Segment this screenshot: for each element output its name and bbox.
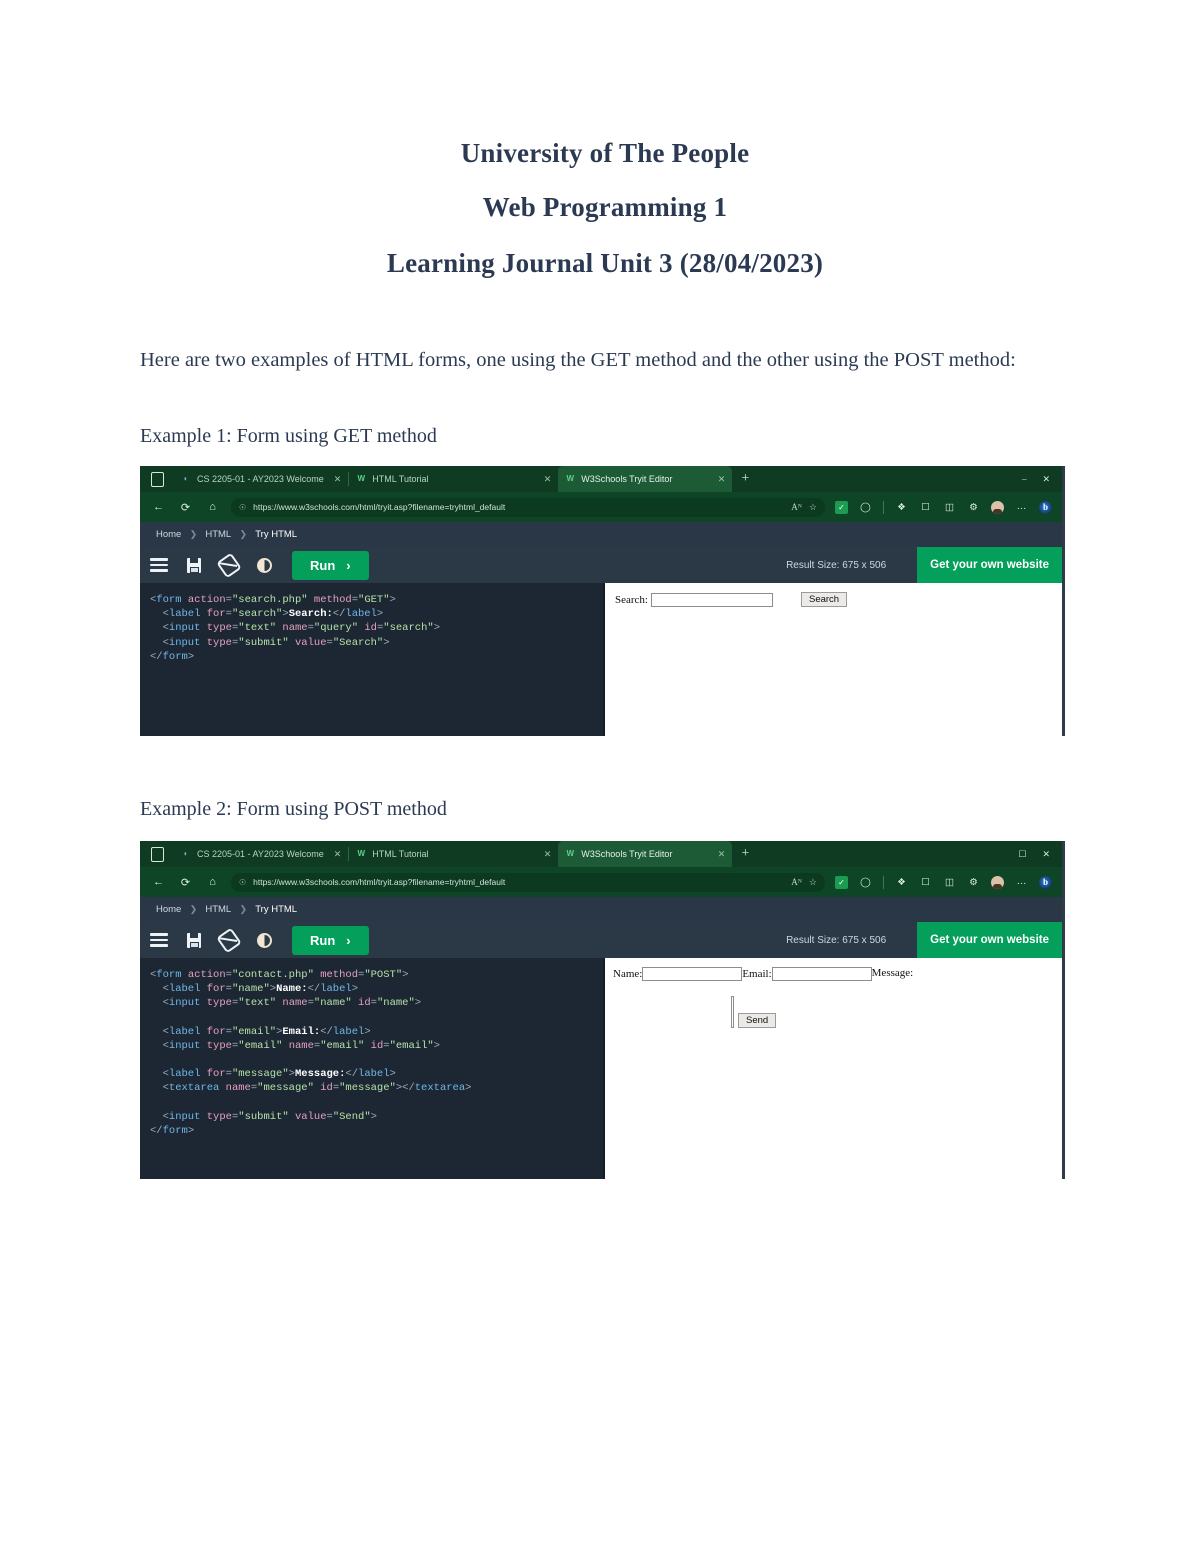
- browser-tab-title: CS 2205-01 - AY2023 Welcome: [197, 849, 324, 859]
- email-field-label: Email:: [742, 968, 771, 980]
- w3schools-favicon: W: [565, 474, 575, 484]
- shield-icon[interactable]: ✓: [835, 501, 848, 514]
- favorites-icon[interactable]: ☐: [919, 876, 932, 889]
- breadcrumb-separator-icon: ❯: [185, 904, 201, 915]
- shield-icon[interactable]: ✓: [835, 876, 848, 889]
- run-button-label: Run: [310, 933, 335, 948]
- address-input[interactable]: ☉ https://www.w3schools.com/html/tryit.a…: [231, 873, 825, 892]
- split-screen-icon[interactable]: ◫: [943, 876, 956, 889]
- more-icon[interactable]: …: [1015, 501, 1028, 514]
- window-maximize-button[interactable]: ☐: [1018, 849, 1026, 860]
- breadcrumb: Home ❯ HTML ❯ Try HTML: [140, 522, 1062, 547]
- favorite-star-icon[interactable]: ☆: [809, 502, 817, 513]
- page-title-university: University of The People: [140, 138, 1070, 169]
- editor-body: <form action="contact.php" method="POST"…: [140, 958, 1062, 1179]
- browser-tab-2[interactable]: W W3Schools Tryit Editor ✕: [558, 841, 732, 867]
- window-controls: ☐ ✕: [1018, 841, 1062, 867]
- browser-tab-0[interactable]: ◐ CS 2205-01 - AY2023 Welcome ✕: [174, 841, 348, 867]
- browser-tab-title: HTML Tutorial: [372, 474, 533, 484]
- message-field-group: Message:: [872, 967, 914, 979]
- result-preview-pane-example-2: Name: Email: Message: Send: [605, 958, 1062, 1179]
- breadcrumb-item-html[interactable]: HTML: [201, 904, 235, 915]
- back-icon[interactable]: ←: [150, 499, 167, 516]
- editor-toolbar: Run › Result Size: 675 x 506 Get your ow…: [140, 922, 1062, 958]
- refresh-icon[interactable]: ⟳: [177, 874, 194, 891]
- breadcrumb-separator-icon: ❯: [235, 529, 251, 540]
- window-close-button[interactable]: ✕: [1042, 849, 1050, 860]
- refresh-icon[interactable]: ⟳: [177, 499, 194, 516]
- page-title-assignment: Learning Journal Unit 3 (28/04/2023): [140, 248, 1070, 279]
- history-icon[interactable]: ◯: [859, 501, 872, 514]
- extensions-icon[interactable]: ⚙: [967, 501, 980, 514]
- save-icon[interactable]: [185, 931, 203, 949]
- message-field-label: Message:: [872, 967, 914, 979]
- w3schools-favicon: W: [356, 849, 366, 859]
- breadcrumb-separator-icon: ❯: [185, 529, 201, 540]
- editor-body: <form action="search.php" method="GET"> …: [140, 583, 1062, 736]
- browser-screenshot-example-2: ◐ CS 2205-01 - AY2023 Welcome ✕ W HTML T…: [140, 841, 1065, 1179]
- search-input[interactable]: [651, 593, 773, 607]
- chevron-right-icon: ›: [346, 933, 350, 948]
- browser-tab-title: CS 2205-01 - AY2023 Welcome: [197, 474, 324, 484]
- tab-close-icon[interactable]: ✕: [330, 849, 342, 860]
- tab-close-icon[interactable]: ✕: [540, 849, 552, 860]
- address-url-text: https://www.w3schools.com/html/tryit.asp…: [253, 877, 784, 887]
- search-field-label: Search:: [615, 594, 648, 606]
- home-icon[interactable]: ⌂: [204, 874, 221, 891]
- result-size-label: Result Size: 675 x 506: [786, 935, 900, 946]
- window-controls: – ✕: [1022, 466, 1062, 492]
- browser-tab-1[interactable]: W HTML Tutorial ✕: [349, 841, 558, 867]
- copilot-icon[interactable]: b: [1039, 876, 1052, 889]
- save-icon[interactable]: [185, 556, 203, 574]
- result-preview-pane-example-1: Search: Search: [605, 583, 1062, 736]
- toolbar-divider: [883, 876, 884, 889]
- name-input[interactable]: [642, 967, 742, 981]
- code-editor-pane-example-1[interactable]: <form action="search.php" method="GET"> …: [140, 583, 605, 736]
- intro-paragraph: Here are two examples of HTML forms, one…: [140, 346, 1065, 376]
- menu-icon[interactable]: [150, 931, 168, 949]
- breadcrumb-item-try-html: Try HTML: [251, 529, 301, 540]
- email-input[interactable]: [772, 967, 872, 981]
- menu-icon[interactable]: [150, 556, 168, 574]
- browser-toolbar-icons: ✓ ◯ ❖ ☐ ◫ ⚙ … b: [835, 876, 1052, 889]
- tab-close-icon[interactable]: ✕: [330, 474, 342, 485]
- example-1-caption: Example 1: Form using GET method: [140, 425, 437, 448]
- run-button[interactable]: Run ›: [292, 551, 369, 580]
- address-input[interactable]: ☉ https://www.w3schools.com/html/tryit.a…: [231, 498, 825, 517]
- favorites-icon[interactable]: ☐: [919, 501, 932, 514]
- document-page: University of The People Web Programming…: [0, 0, 1200, 1553]
- copilot-icon[interactable]: b: [1039, 501, 1052, 514]
- window-minimize-button[interactable]: –: [1022, 474, 1027, 484]
- browser-tab-title: W3Schools Tryit Editor: [581, 849, 707, 859]
- browser-address-bar-row: ← ⟳ ⌂ ☉ https://www.w3schools.com/html/t…: [140, 867, 1062, 897]
- browser-tab-1[interactable]: W HTML Tutorial ✕: [349, 466, 558, 492]
- extensions-icon[interactable]: ⚙: [967, 876, 980, 889]
- rotate-icon[interactable]: [220, 556, 238, 574]
- tab-close-icon[interactable]: ✕: [714, 474, 726, 485]
- read-aloud-icon[interactable]: Aᴺ: [791, 877, 802, 887]
- new-tab-button[interactable]: +: [732, 466, 758, 492]
- run-button-label: Run: [310, 558, 335, 573]
- browser-tab-2[interactable]: W W3Schools Tryit Editor ✕: [558, 466, 732, 492]
- browser-tab-strip: ◐ CS 2205-01 - AY2023 Welcome ✕ W HTML T…: [140, 466, 1062, 492]
- get-your-own-website-button[interactable]: Get your own website: [917, 922, 1062, 958]
- name-field-group: Name:: [613, 967, 742, 981]
- w3schools-favicon: W: [565, 849, 575, 859]
- breadcrumb-item-home[interactable]: Home: [152, 904, 185, 915]
- result-size-label: Result Size: 675 x 506: [786, 560, 900, 571]
- example-2-caption: Example 2: Form using POST method: [140, 798, 447, 821]
- breadcrumb-separator-icon: ❯: [235, 904, 251, 915]
- history-icon[interactable]: ◯: [859, 876, 872, 889]
- uopeople-favicon: ◐: [181, 474, 191, 484]
- window-close-button[interactable]: ✕: [1042, 474, 1050, 485]
- tab-close-icon[interactable]: ✕: [540, 474, 552, 485]
- code-editor-pane-example-2[interactable]: <form action="contact.php" method="POST"…: [140, 958, 605, 1179]
- search-submit-button[interactable]: Search: [801, 592, 847, 607]
- split-screen-icon[interactable]: ◫: [943, 501, 956, 514]
- chevron-right-icon: ›: [346, 558, 350, 573]
- breadcrumb-item-home[interactable]: Home: [152, 529, 185, 540]
- message-textarea[interactable]: [731, 996, 734, 1028]
- editor-toolbar: Run › Result Size: 675 x 506 Get your ow…: [140, 547, 1062, 583]
- profile-avatar[interactable]: [991, 501, 1004, 514]
- browser-toolbar-icons: ✓ ◯ ❖ ☐ ◫ ⚙ … b: [835, 501, 1052, 514]
- page-title-course: Web Programming 1: [140, 192, 1070, 223]
- browser-screenshot-example-1: ◐ CS 2205-01 - AY2023 Welcome ✕ W HTML T…: [140, 466, 1065, 736]
- breadcrumb-item-try-html: Try HTML: [251, 904, 301, 915]
- toolbar-divider: [883, 501, 884, 514]
- profile-avatar[interactable]: [991, 876, 1004, 889]
- home-icon[interactable]: ⌂: [204, 499, 221, 516]
- tab-actions-icon[interactable]: [140, 841, 174, 867]
- address-url-text: https://www.w3schools.com/html/tryit.asp…: [253, 502, 784, 512]
- theme-icon[interactable]: [255, 556, 273, 574]
- browser-tab-title: W3Schools Tryit Editor: [581, 474, 707, 484]
- browser-address-bar-row: ← ⟳ ⌂ ☉ https://www.w3schools.com/html/t…: [140, 492, 1062, 522]
- breadcrumb: Home ❯ HTML ❯ Try HTML: [140, 897, 1062, 922]
- favorite-star-icon[interactable]: ☆: [809, 877, 817, 888]
- send-submit-button[interactable]: Send: [738, 1013, 776, 1028]
- tab-close-icon[interactable]: ✕: [714, 849, 726, 860]
- get-your-own-website-button[interactable]: Get your own website: [917, 547, 1062, 583]
- back-icon[interactable]: ←: [150, 874, 167, 891]
- collections-icon[interactable]: ❖: [895, 501, 908, 514]
- rotate-icon[interactable]: [220, 931, 238, 949]
- more-icon[interactable]: …: [1015, 876, 1028, 889]
- uopeople-favicon: ◐: [181, 849, 191, 859]
- email-field-group: Email:: [742, 967, 871, 981]
- send-row: Send: [605, 996, 1062, 1028]
- browser-tab-strip: ◐ CS 2205-01 - AY2023 Welcome ✕ W HTML T…: [140, 841, 1062, 867]
- breadcrumb-item-html[interactable]: HTML: [201, 529, 235, 540]
- tab-actions-icon[interactable]: [140, 466, 174, 492]
- browser-tab-title: HTML Tutorial: [372, 849, 533, 859]
- theme-icon[interactable]: [255, 931, 273, 949]
- collections-icon[interactable]: ❖: [895, 876, 908, 889]
- browser-tab-0[interactable]: ◐ CS 2205-01 - AY2023 Welcome ✕: [174, 466, 348, 492]
- site-info-icon[interactable]: ☉: [239, 503, 246, 512]
- new-tab-button[interactable]: +: [732, 841, 758, 867]
- site-info-icon[interactable]: ☉: [239, 878, 246, 887]
- name-field-label: Name:: [613, 968, 642, 980]
- w3schools-favicon: W: [356, 474, 366, 484]
- read-aloud-icon[interactable]: Aᴺ: [791, 502, 802, 512]
- run-button[interactable]: Run ›: [292, 926, 369, 955]
